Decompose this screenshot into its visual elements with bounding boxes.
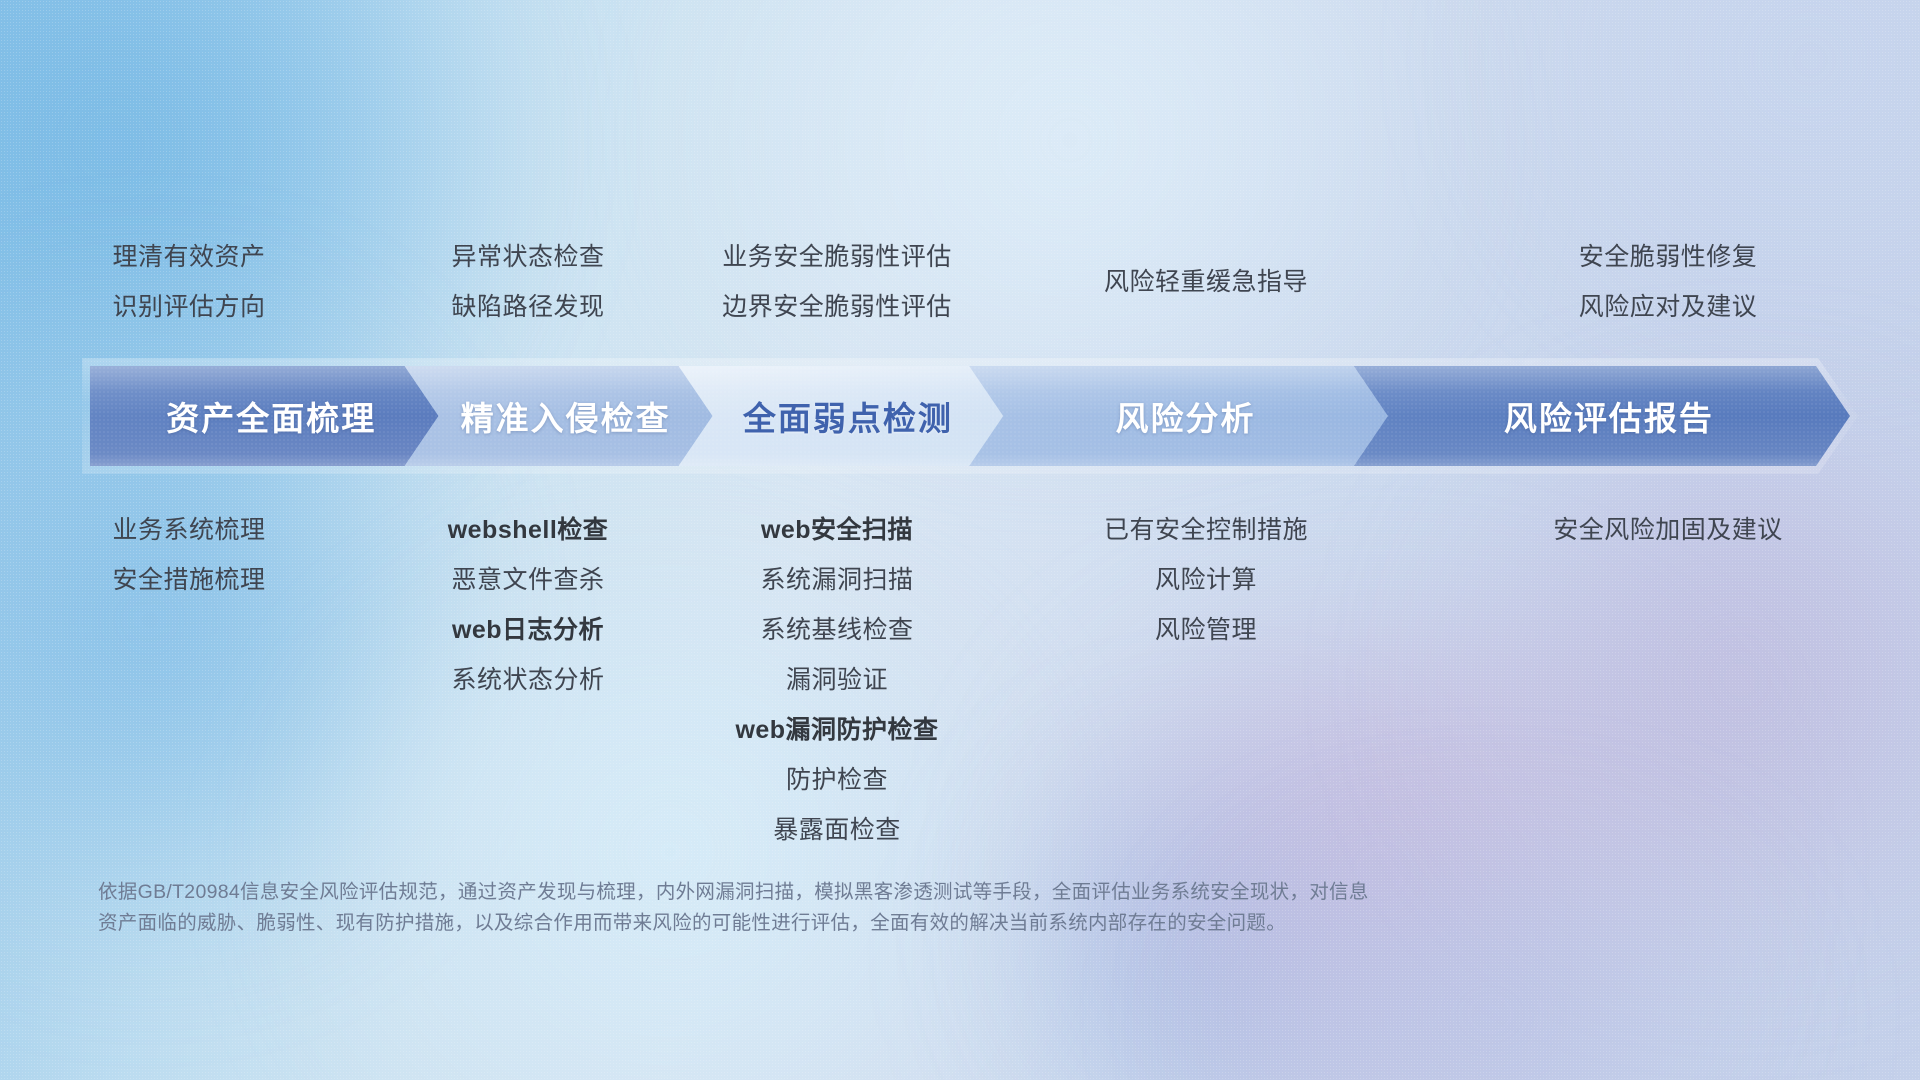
chevron-label: 资产全面梳理 (152, 392, 376, 440)
top-label: 风险轻重缓急指导 (1104, 257, 1308, 307)
top-label: 识别评估方向 (112, 282, 265, 332)
stage-bottom-lists-row: 业务系统梳理 安全措施梳理 webshell检查 恶意文件查杀 web日志分析 … (0, 505, 1920, 835)
list-item: 系统基线检查 (760, 605, 913, 655)
list-item: web漏洞防护检查 (735, 705, 938, 755)
chevron-stage-intrusion-check[interactable]: 精准入侵检查 (405, 366, 713, 466)
chevron-stage-assessment-report[interactable]: 风险评估报告 (1354, 366, 1850, 466)
top-labels-assessment-report: 安全脆弱性修复 风险应对及建议 (1416, 232, 1920, 332)
list-item: webshell检查 (448, 505, 609, 555)
footer-line-1: 依据GB/T20984信息安全风险评估规范，通过资产发现与梳理，内外网漏洞扫描，… (98, 877, 1658, 908)
list-item: 安全措施梳理 (112, 555, 265, 605)
infographic-canvas: 理清有效资产 识别评估方向 异常状态检查 缺陷路径发现 业务安全脆弱性评估 边界… (0, 0, 1920, 1080)
top-labels-intrusion-check: 异常状态检查 缺陷路径发现 (378, 232, 678, 332)
list-item: web安全扫描 (761, 505, 913, 555)
chevron-label: 风险分析 (1102, 392, 1256, 440)
list-item: 系统状态分析 (451, 655, 604, 705)
top-labels-risk-analysis: 风险轻重缓急指导 (996, 232, 1416, 307)
list-item: 已有安全控制措施 (1104, 505, 1308, 555)
top-label: 异常状态检查 (451, 232, 604, 282)
chevron-label: 精准入侵检查 (447, 392, 671, 440)
top-label: 业务安全脆弱性评估 (722, 232, 952, 282)
list-item: web日志分析 (452, 605, 604, 655)
chevron-stage-asset-inventory[interactable]: 资产全面梳理 (90, 366, 439, 466)
top-label: 理清有效资产 (112, 232, 265, 282)
chevron-stage-weakness-detection[interactable]: 全面弱点检测 (679, 366, 1004, 466)
list-item: 安全风险加固及建议 (1553, 505, 1783, 555)
chevron-stage-risk-analysis[interactable]: 风险分析 (969, 366, 1388, 466)
list-item: 业务系统梳理 (112, 505, 265, 555)
chevron-label: 风险评估报告 (1490, 392, 1714, 440)
top-label: 缺陷路径发现 (451, 282, 604, 332)
list-item: 防护检查 (786, 755, 888, 805)
list-item: 风险管理 (1155, 605, 1257, 655)
chevron-label: 全面弱点检测 (729, 392, 953, 440)
top-labels-asset-inventory: 理清有效资产 识别评估方向 (0, 232, 378, 332)
top-label: 边界安全脆弱性评估 (722, 282, 952, 332)
process-chevron-band: 资产全面梳理 精准入侵检查 全面弱点检测 风险分析 风险评估报告 (90, 366, 1850, 466)
list-item: 系统漏洞扫描 (760, 555, 913, 605)
bottom-list-weakness-detection: web安全扫描 系统漏洞扫描 系统基线检查 漏洞验证 web漏洞防护检查 防护检… (678, 505, 996, 855)
top-label: 风险应对及建议 (1579, 282, 1758, 332)
footer-description: 依据GB/T20984信息安全风险评估规范，通过资产发现与梳理，内外网漏洞扫描，… (98, 877, 1658, 939)
top-label: 安全脆弱性修复 (1579, 232, 1758, 282)
footer-line-2: 资产面临的威胁、脆弱性、现有防护措施，以及综合作用而带来风险的可能性进行评估，全… (98, 908, 1658, 939)
bottom-list-risk-analysis: 已有安全控制措施 风险计算 风险管理 (996, 505, 1416, 655)
list-item: 漏洞验证 (786, 655, 888, 705)
bottom-list-intrusion-check: webshell检查 恶意文件查杀 web日志分析 系统状态分析 (378, 505, 678, 705)
list-item: 恶意文件查杀 (451, 555, 604, 605)
top-labels-weakness-detection: 业务安全脆弱性评估 边界安全脆弱性评估 (678, 232, 996, 332)
list-item: 风险计算 (1155, 555, 1257, 605)
bottom-list-asset-inventory: 业务系统梳理 安全措施梳理 (0, 505, 378, 605)
bottom-list-assessment-report: 安全风险加固及建议 (1416, 505, 1920, 555)
stage-top-labels-row: 理清有效资产 识别评估方向 异常状态检查 缺陷路径发现 业务安全脆弱性评估 边界… (0, 232, 1920, 342)
list-item: 暴露面检查 (773, 805, 901, 855)
